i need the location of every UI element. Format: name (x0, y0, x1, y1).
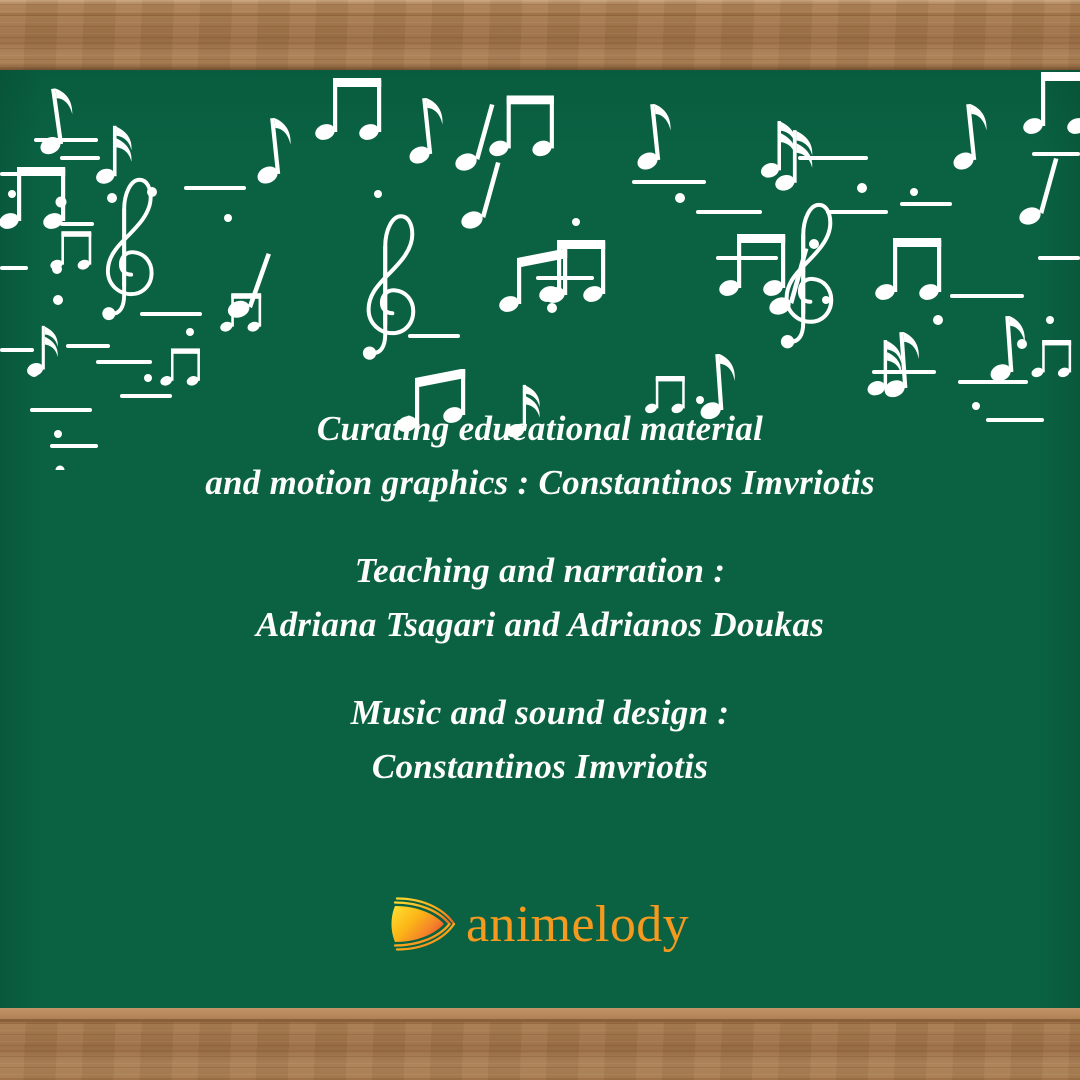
credit-line: Constantinos Imvriotis (0, 740, 1080, 794)
credits-slide: Curating educational material and motion… (0, 0, 1080, 1080)
credit-music: Music and sound design : Constantinos Im… (0, 686, 1080, 794)
credit-line: Music and sound design : (0, 686, 1080, 740)
animelody-logo[interactable]: animelody (0, 893, 1080, 955)
credit-line: Teaching and narration : (0, 544, 1080, 598)
credit-line: and motion graphics : Constantinos Imvri… (0, 456, 1080, 510)
animelody-play-leaf-icon (391, 893, 455, 955)
wooden-frame-top (0, 0, 1080, 70)
credits-text-group: Curating educational material and motion… (0, 402, 1080, 828)
animelody-wordmark: animelody (466, 899, 689, 951)
credit-line: Adriana Tsagari and Adrianos Doukas (0, 598, 1080, 652)
credit-curating: Curating educational material and motion… (0, 402, 1080, 510)
credit-line: Curating educational material (0, 402, 1080, 456)
credit-teaching: Teaching and narration : Adriana Tsagari… (0, 544, 1080, 652)
chalk-ledge-lip (0, 1008, 1080, 1022)
